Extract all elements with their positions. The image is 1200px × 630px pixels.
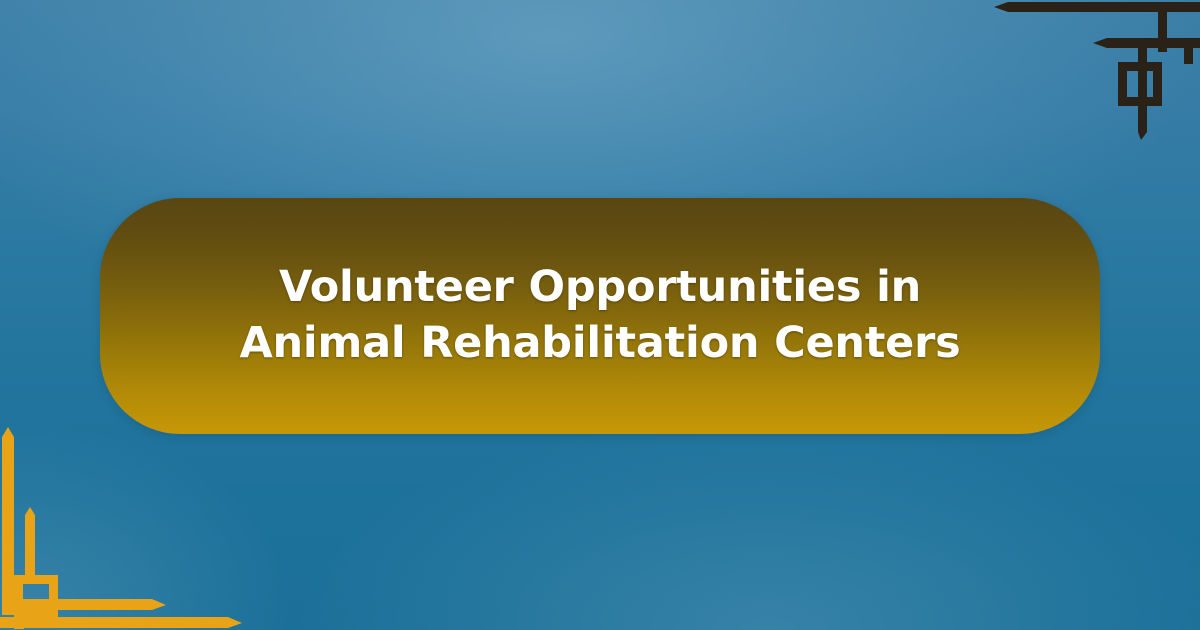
banner-canvas: Volunteer Opportunities in Animal Rehabi… — [0, 0, 1200, 630]
title-card: Volunteer Opportunities in Animal Rehabi… — [100, 198, 1100, 434]
page-title: Volunteer Opportunities in Animal Rehabi… — [100, 260, 1100, 372]
